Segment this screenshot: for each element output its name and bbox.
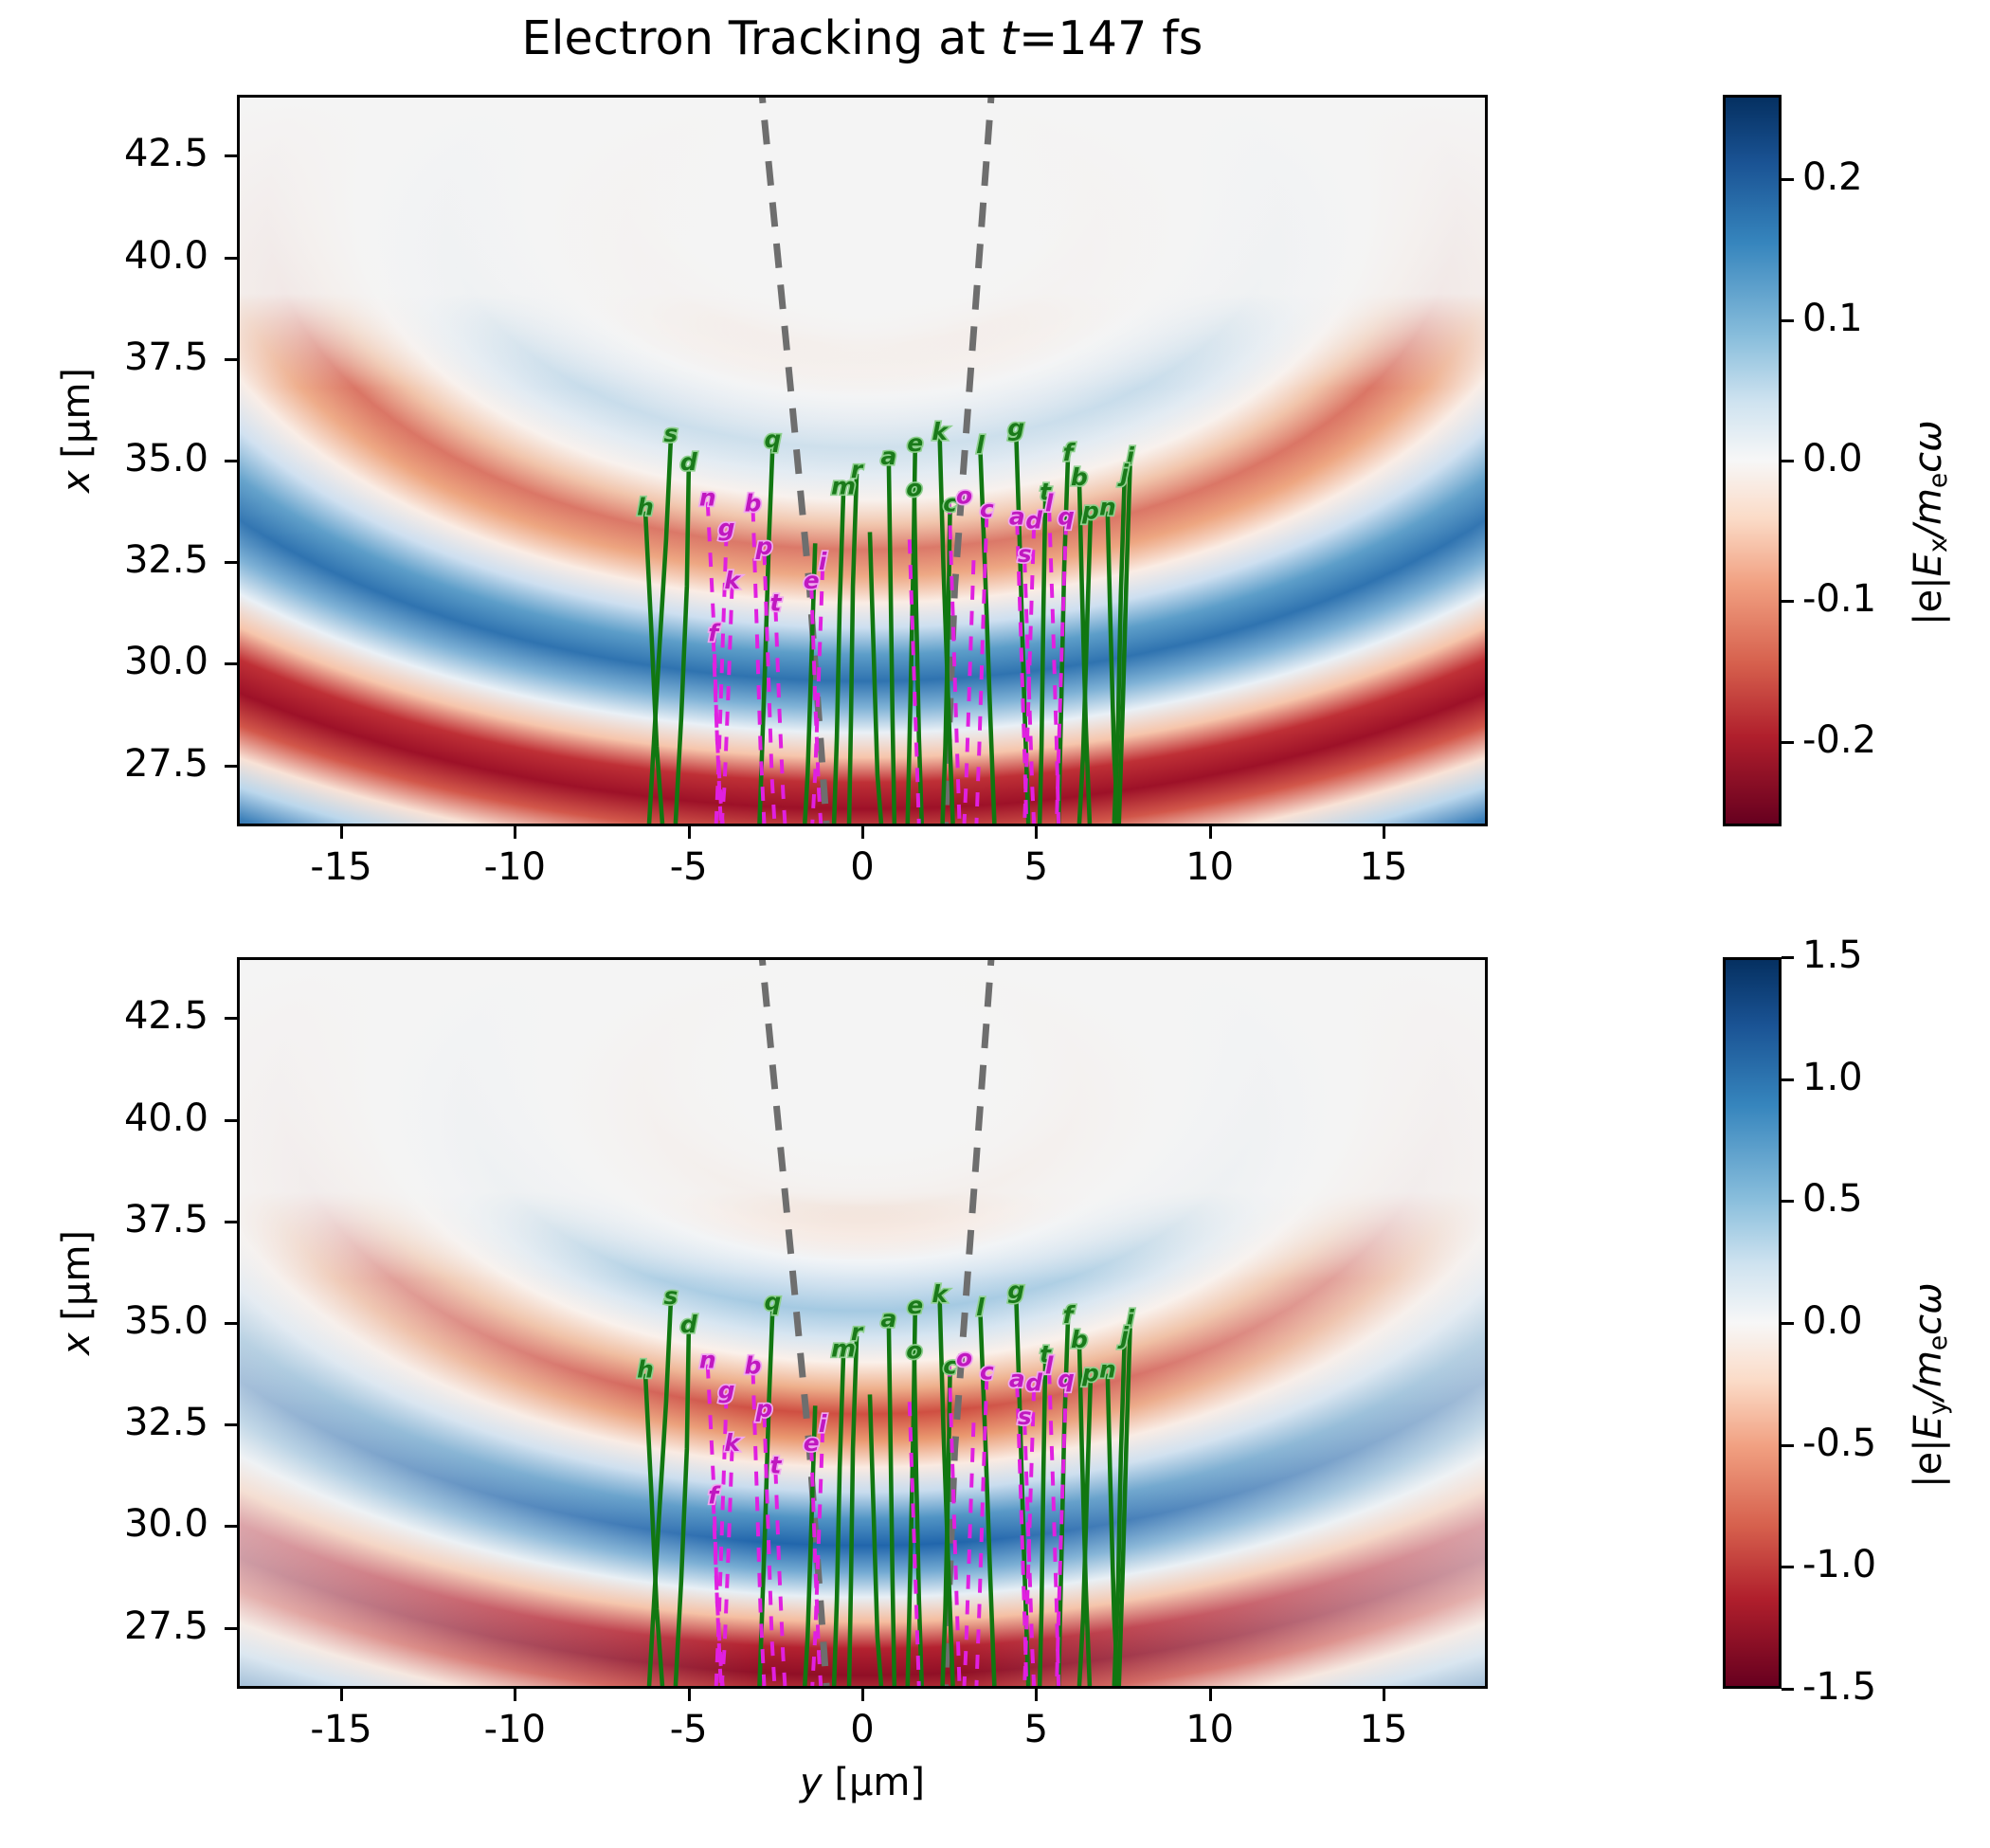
svg-text:h: h <box>637 494 654 521</box>
x-tick-label-bottom-6: 15 <box>1308 1708 1459 1751</box>
x-axis-label: y [µm] <box>237 1761 1488 1804</box>
colorbar-ey-tick-3 <box>1782 1322 1794 1325</box>
svg-text:a: a <box>880 443 896 470</box>
y-axis-label-top: x [µm] <box>55 368 99 493</box>
x-tick-bottom-6 <box>1383 1689 1385 1701</box>
x-tick-label-bottom-1: -10 <box>439 1708 590 1751</box>
svg-text:t: t <box>769 1452 782 1479</box>
svg-text:e: e <box>907 429 923 457</box>
svg-text:n: n <box>699 1347 716 1374</box>
x-tick-label-top-6: 15 <box>1308 845 1459 889</box>
svg-text:i: i <box>819 1410 827 1438</box>
svg-text:s: s <box>1018 540 1032 568</box>
svg-text:n: n <box>699 484 716 512</box>
svg-text:p: p <box>755 533 773 560</box>
colorbar-ex-gradient <box>1726 98 1779 824</box>
x-tick-bottom-5 <box>1209 1689 1212 1701</box>
colorbar-ey-tick-label-6: -1.5 <box>1802 1665 1876 1709</box>
svg-text:p: p <box>755 1395 773 1422</box>
svg-text:i: i <box>819 548 827 575</box>
x-tick-bottom-3 <box>861 1689 864 1701</box>
y-axis-var-bottom: x <box>55 1332 99 1355</box>
y-tick-bottom-0 <box>225 1017 237 1020</box>
colorbar-ey-tick-0 <box>1782 956 1794 959</box>
colorbar-ey-tick-label-2: 0.5 <box>1802 1177 1863 1221</box>
x-tick-label-bottom-4: 5 <box>960 1708 1112 1751</box>
svg-text:a: a <box>1009 503 1025 531</box>
svg-text:o: o <box>956 1345 972 1372</box>
svg-text:d: d <box>1025 1368 1042 1396</box>
svg-text:j: j <box>1116 460 1129 487</box>
svg-text:d: d <box>1025 506 1042 534</box>
svg-text:k: k <box>932 1280 949 1308</box>
colorbar-ey-tick-2 <box>1782 1200 1794 1203</box>
svg-text:b: b <box>745 490 762 517</box>
y-tick-label-bottom-6: 27.5 <box>33 1604 208 1648</box>
y-tick-label-top-5: 30.0 <box>33 640 208 683</box>
svg-text:f: f <box>1063 439 1076 466</box>
cb-ey-sub: y <box>1924 1401 1953 1416</box>
svg-text:f: f <box>1063 1301 1076 1329</box>
svg-text:l: l <box>1045 490 1054 517</box>
svg-text:s: s <box>664 1282 678 1310</box>
svg-text:q: q <box>765 1288 782 1315</box>
title-value: 147 <box>1058 11 1147 65</box>
colorbar-ex[interactable] <box>1723 95 1782 826</box>
x-tick-label-top-3: 0 <box>787 845 938 889</box>
x-tick-label-top-4: 5 <box>960 845 1112 889</box>
cb-ex-E: E <box>1907 553 1950 576</box>
svg-text:q: q <box>1058 1366 1075 1393</box>
svg-text:e: e <box>804 1429 820 1457</box>
y-tick-bottom-3 <box>225 1322 237 1325</box>
colorbar-ex-label: |e|Ex/mecω <box>1907 420 1953 625</box>
x-tick-label-bottom-0: -15 <box>265 1708 417 1751</box>
x-tick-top-2 <box>688 826 691 839</box>
colorbar-ey-tick-4 <box>1782 1444 1794 1447</box>
colorbar-ex-tick-1 <box>1782 319 1794 322</box>
colorbar-ex-tick-label-3: -0.1 <box>1802 577 1876 621</box>
colorbar-ey-tick-5 <box>1782 1566 1794 1568</box>
x-axis-var: y <box>800 1761 823 1804</box>
colorbar-ey[interactable] <box>1723 957 1782 1689</box>
colorbar-ey-tick-label-3: 0.0 <box>1802 1299 1863 1343</box>
svg-text:d: d <box>680 448 697 476</box>
svg-text:o: o <box>906 1337 922 1365</box>
cb-ey-div: / <box>1907 1387 1950 1400</box>
ex-overlay: sd qr ae km oc hg fl tb pi jn nb gp kf t… <box>240 98 1485 824</box>
colorbar-ey-tick-label-0: 1.5 <box>1802 933 1863 977</box>
svg-text:o: o <box>906 475 922 502</box>
svg-text:k: k <box>932 418 949 445</box>
svg-text:n: n <box>1099 1356 1116 1384</box>
title-unit: fs <box>1148 11 1203 65</box>
svg-text:e: e <box>907 1292 923 1319</box>
colorbar-ex-tick-label-4: -0.2 <box>1802 718 1876 762</box>
svg-text:b: b <box>1071 1326 1088 1353</box>
colorbar-ey-tick-label-1: 1.0 <box>1802 1056 1863 1099</box>
y-tick-top-3 <box>225 460 237 462</box>
svg-text:s: s <box>664 420 678 447</box>
cb-ey-sub2: e <box>1924 1335 1953 1350</box>
y-tick-label-bottom-4: 32.5 <box>33 1401 208 1444</box>
svg-text:q: q <box>1058 503 1075 531</box>
svg-text:s: s <box>1018 1403 1032 1430</box>
y-tick-top-5 <box>225 662 237 665</box>
title-prefix: Electron Tracking at <box>522 11 1001 65</box>
colorbar-ey-label: |e|Ey/mecω <box>1907 1282 1953 1488</box>
svg-text:a: a <box>1009 1366 1025 1393</box>
y-tick-bottom-1 <box>225 1119 237 1122</box>
y-axis-label-bottom: x [µm] <box>55 1230 99 1355</box>
y-tick-top-0 <box>225 154 237 157</box>
x-tick-top-5 <box>1209 826 1212 839</box>
svg-text:q: q <box>765 426 782 453</box>
y-tick-label-bottom-0: 42.5 <box>33 994 208 1038</box>
x-tick-bottom-0 <box>340 1689 343 1701</box>
svg-text:g: g <box>1007 414 1024 442</box>
svg-text:k: k <box>724 567 741 594</box>
ey-overlay: sd qr ae km oc hg fl tb pi jn nb gp kf t… <box>240 960 1485 1686</box>
svg-text:t: t <box>769 589 782 617</box>
x-tick-top-6 <box>1383 826 1385 839</box>
x-tick-label-bottom-5: 10 <box>1134 1708 1286 1751</box>
x-tick-bottom-2 <box>688 1689 691 1701</box>
cb-ex-div: / <box>1907 525 1950 537</box>
cb-ex-mod: |e| <box>1907 576 1950 625</box>
colorbar-ey-gradient <box>1726 960 1779 1686</box>
svg-text:a: a <box>880 1305 896 1332</box>
x-tick-label-top-5: 10 <box>1134 845 1286 889</box>
y-tick-label-top-6: 27.5 <box>33 742 208 786</box>
y-tick-bottom-4 <box>225 1423 237 1426</box>
y-axis-unit-bottom: [µm] <box>55 1230 99 1332</box>
x-tick-top-3 <box>861 826 864 839</box>
title-variable: t <box>1001 11 1019 65</box>
cb-ey-tail: cω <box>1907 1282 1950 1335</box>
colorbar-ex-tick-0 <box>1782 178 1794 181</box>
cb-ey-mod: |e| <box>1907 1439 1950 1488</box>
svg-text:j: j <box>1116 1322 1129 1350</box>
y-axis-var-top: x <box>55 470 99 493</box>
svg-text:f: f <box>708 1482 721 1510</box>
y-tick-label-bottom-5: 30.0 <box>33 1502 208 1546</box>
y-tick-top-2 <box>225 358 237 361</box>
colorbar-ex-tick-label-0: 0.2 <box>1802 155 1863 199</box>
y-tick-label-top-4: 32.5 <box>33 538 208 582</box>
y-tick-bottom-5 <box>225 1525 237 1528</box>
colorbar-ey-tick-1 <box>1782 1078 1794 1081</box>
x-tick-top-4 <box>1035 826 1038 839</box>
x-axis-unit: [µm] <box>823 1761 925 1804</box>
panel-ex-field[interactable]: sd qr ae km oc hg fl tb pi jn nb gp kf t… <box>237 95 1488 826</box>
svg-text:p: p <box>1081 498 1099 525</box>
panel-ey-field[interactable]: sd qr ae km oc hg fl tb pi jn nb gp kf t… <box>237 957 1488 1689</box>
y-tick-top-6 <box>225 765 237 768</box>
svg-text:p: p <box>1081 1360 1099 1387</box>
x-tick-label-bottom-3: 0 <box>787 1708 938 1751</box>
svg-text:l: l <box>976 1294 985 1321</box>
cb-ex-sub: x <box>1924 538 1953 553</box>
y-tick-top-4 <box>225 561 237 564</box>
colorbar-ey-tick-label-5: -1.0 <box>1802 1543 1876 1586</box>
svg-text:f: f <box>708 620 721 647</box>
svg-text:n: n <box>1099 494 1116 521</box>
x-tick-label-top-0: -15 <box>265 845 417 889</box>
svg-text:l: l <box>1045 1352 1054 1380</box>
svg-text:c: c <box>980 496 994 523</box>
svg-text:e: e <box>804 567 820 594</box>
svg-text:b: b <box>1071 463 1088 491</box>
colorbar-ey-tick-6 <box>1782 1688 1794 1691</box>
x-tick-top-1 <box>514 826 516 839</box>
y-tick-bottom-6 <box>225 1627 237 1630</box>
y-tick-top-1 <box>225 257 237 260</box>
colorbar-ex-tick-label-1: 0.1 <box>1802 297 1863 340</box>
svg-text:o: o <box>956 482 972 510</box>
colorbar-ex-tick-label-2: 0.0 <box>1802 437 1863 480</box>
svg-text:c: c <box>980 1358 994 1386</box>
cb-ex-sub2: e <box>1924 473 1953 488</box>
y-axis-unit-top: [µm] <box>55 368 99 470</box>
cb-ey-m: m <box>1907 1350 1950 1387</box>
x-tick-top-0 <box>340 826 343 839</box>
svg-text:g: g <box>718 514 735 541</box>
svg-text:g: g <box>718 1376 735 1404</box>
y-tick-label-top-0: 42.5 <box>33 132 208 175</box>
cb-ey-E: E <box>1907 1415 1950 1439</box>
svg-text:l: l <box>976 431 985 459</box>
x-tick-label-bottom-2: -5 <box>613 1708 765 1751</box>
x-tick-bottom-1 <box>514 1689 516 1701</box>
svg-text:g: g <box>1007 1277 1024 1304</box>
figure-canvas: Electron Tracking at t=147 fs <box>0 0 1990 1848</box>
svg-text:m: m <box>831 473 856 500</box>
colorbar-ex-tick-2 <box>1782 460 1794 462</box>
x-tick-label-top-2: -5 <box>613 845 765 889</box>
svg-text:b: b <box>745 1352 762 1380</box>
title-equals: = <box>1019 11 1058 65</box>
svg-text:k: k <box>724 1429 741 1457</box>
colorbar-ey-tick-label-4: -0.5 <box>1802 1422 1876 1465</box>
figure-title: Electron Tracking at t=147 fs <box>237 11 1488 65</box>
y-tick-label-bottom-1: 40.0 <box>33 1096 208 1140</box>
colorbar-ex-tick-4 <box>1782 741 1794 744</box>
colorbar-ex-tick-3 <box>1782 600 1794 603</box>
svg-text:m: m <box>831 1335 856 1363</box>
svg-text:d: d <box>680 1311 697 1338</box>
y-tick-bottom-2 <box>225 1221 237 1223</box>
svg-text:h: h <box>637 1356 654 1384</box>
x-tick-bottom-4 <box>1035 1689 1038 1701</box>
x-tick-label-top-1: -10 <box>439 845 590 889</box>
cb-ex-tail: cω <box>1907 420 1950 473</box>
cb-ex-m: m <box>1907 488 1950 525</box>
y-tick-label-top-1: 40.0 <box>33 234 208 278</box>
